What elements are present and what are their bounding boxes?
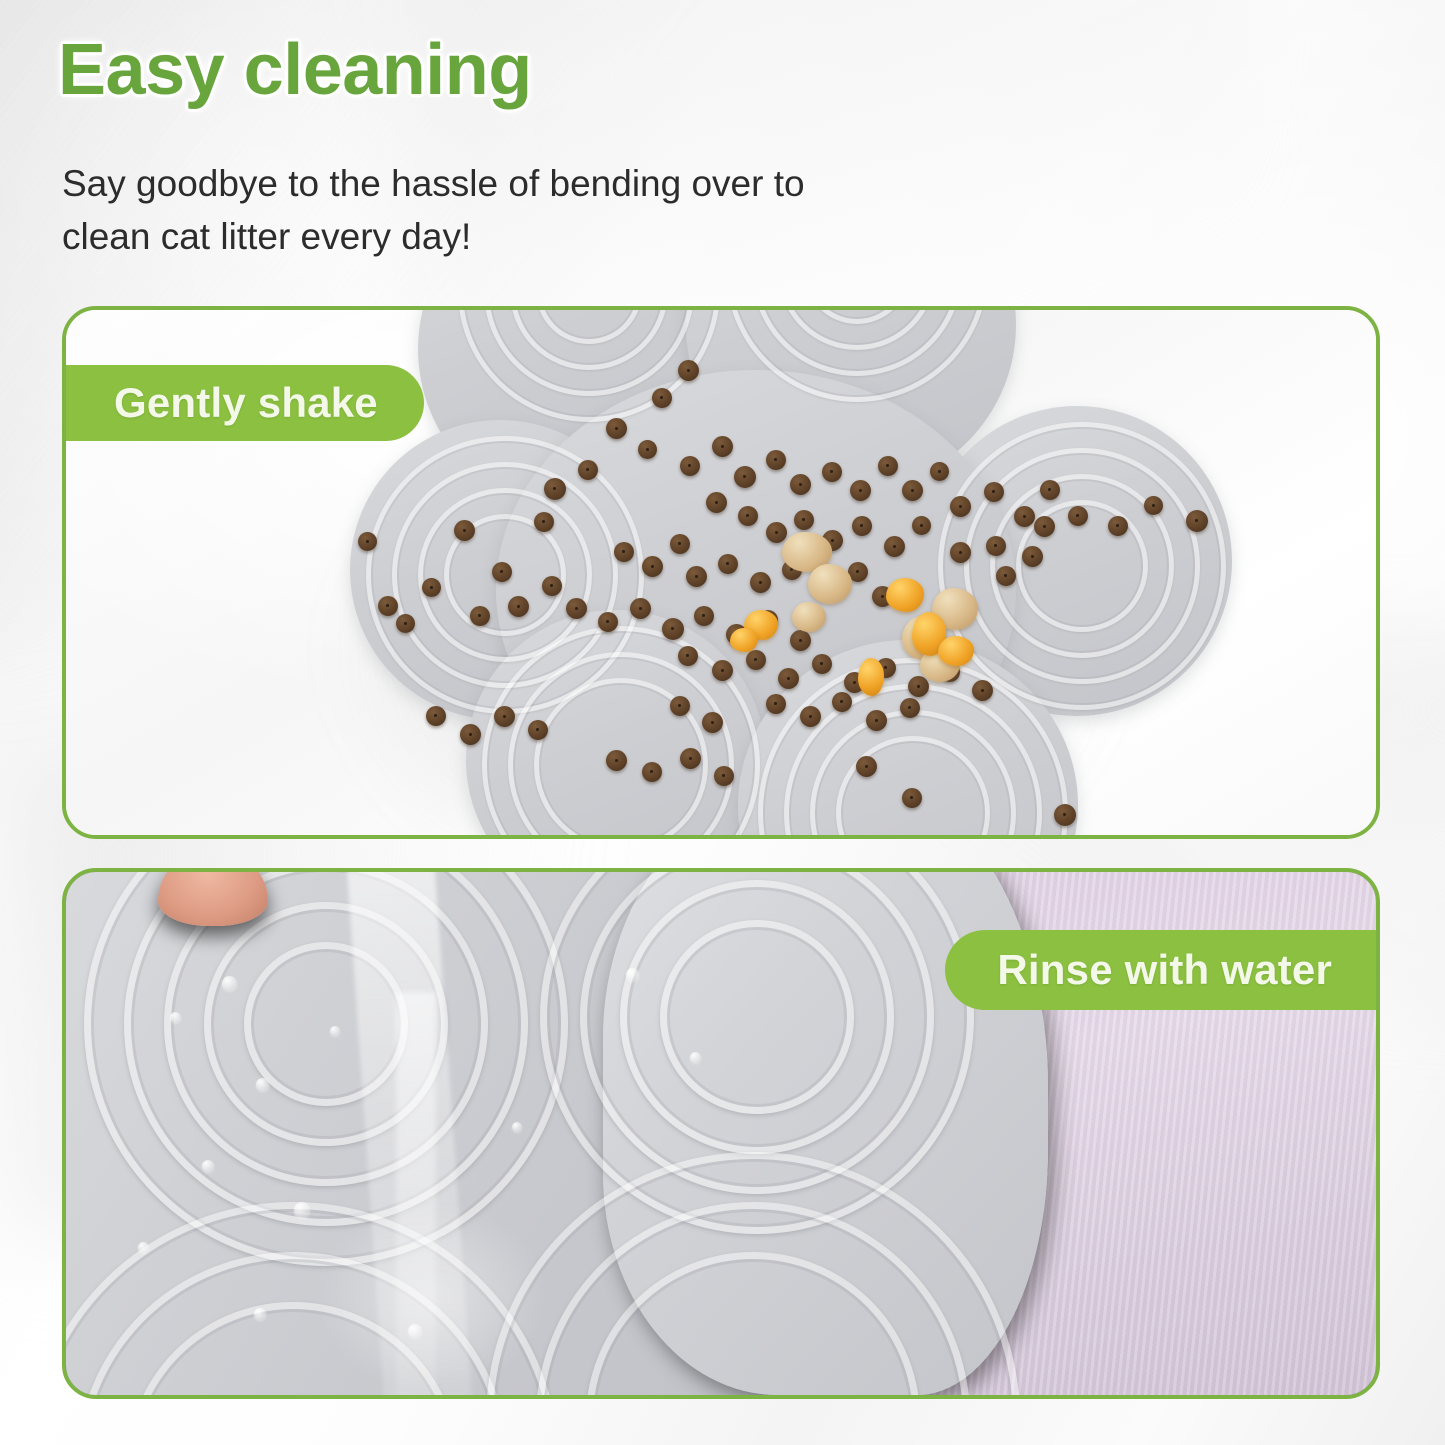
kibble [912, 516, 931, 535]
kibble [544, 478, 566, 500]
kibble [454, 520, 475, 541]
kibble [680, 748, 701, 769]
kibble [972, 680, 993, 701]
water-droplet [138, 1242, 149, 1253]
kibble [680, 456, 700, 476]
kibble [996, 566, 1016, 586]
kibble [686, 566, 707, 587]
kibble-orange [938, 636, 974, 666]
kibble [492, 562, 512, 582]
kibble [678, 646, 698, 666]
kibble [1014, 506, 1035, 527]
kibble [746, 650, 766, 670]
kibble [766, 450, 786, 470]
kibble [460, 724, 481, 745]
kibble [1108, 516, 1128, 536]
kibble [1022, 546, 1043, 567]
kibble [714, 766, 734, 786]
kibble [396, 614, 415, 633]
kibble [630, 598, 651, 619]
water-droplet [256, 1078, 269, 1091]
kibble [566, 598, 587, 619]
badge-rinse-with-water-label: Rinse with water [997, 946, 1332, 994]
water-droplet [202, 1160, 214, 1172]
kibble [1034, 516, 1055, 537]
thumb-holding-mat [158, 872, 268, 926]
kibble [670, 696, 690, 716]
kibble [878, 456, 898, 476]
kibble [508, 596, 529, 617]
kibble [706, 492, 727, 513]
kibble [750, 572, 771, 593]
kibble [534, 512, 554, 532]
card-rinse-with-water[interactable]: Rinse with water [62, 868, 1380, 1399]
kibble [852, 516, 872, 536]
water-droplet [294, 1202, 310, 1218]
kibble [930, 462, 949, 481]
kibble [986, 536, 1006, 556]
infographic-page: Easy cleaning Say goodbye to the hassle … [0, 0, 1445, 1445]
page-title: Easy cleaning [58, 34, 532, 106]
kibble [662, 618, 684, 640]
kibble [642, 762, 662, 782]
kibble [712, 436, 733, 457]
kibble [528, 720, 548, 740]
kibble [790, 630, 811, 651]
kibble [902, 788, 922, 808]
kibble [812, 654, 832, 674]
kibble [542, 576, 562, 596]
wet-mat-ridge [660, 920, 854, 1114]
water-droplet [222, 976, 237, 991]
water-droplet [626, 968, 639, 981]
kibble [678, 360, 699, 381]
kibble [718, 554, 738, 574]
kibble [766, 522, 787, 543]
kibble [1186, 510, 1208, 532]
kibble [470, 606, 490, 626]
kibble-tan [792, 602, 826, 632]
kibble [702, 712, 723, 733]
water-droplet [170, 1012, 181, 1023]
badge-gently-shake-label: Gently shake [114, 379, 378, 427]
kibble [494, 706, 515, 727]
page-subtitle: Say goodbye to the hassle of bending ove… [62, 158, 1022, 263]
water-droplet [690, 1052, 701, 1063]
kibble [712, 660, 733, 681]
kibble [856, 756, 877, 777]
badge-rinse-with-water[interactable]: Rinse with water [945, 930, 1376, 1010]
kibble [984, 482, 1004, 502]
kibble [638, 440, 657, 459]
kibble [378, 596, 398, 616]
kibble-tan [808, 564, 852, 604]
kibble [642, 556, 663, 577]
kibble-orange [858, 658, 884, 696]
kibble [614, 542, 634, 562]
kibble [606, 750, 627, 771]
kibble [426, 706, 446, 726]
water-splash [316, 1202, 546, 1392]
kibble [908, 676, 929, 697]
page-subtitle-line-1: Say goodbye to the hassle of bending ove… [62, 158, 1022, 211]
water-droplet [408, 1324, 422, 1338]
kibble [822, 462, 842, 482]
kibble [766, 694, 786, 714]
page-subtitle-line-2: clean cat litter every day! [62, 211, 1022, 264]
kibble [884, 536, 905, 557]
kibble [832, 692, 852, 712]
kibble [598, 612, 618, 632]
kibble [578, 460, 598, 480]
kibble [694, 606, 714, 626]
kibble [652, 388, 672, 408]
kibble [606, 418, 627, 439]
kibble [1040, 480, 1060, 500]
kibble [850, 480, 871, 501]
kibble [950, 542, 971, 563]
kibble-orange [730, 628, 758, 652]
water-droplet [330, 1026, 340, 1036]
badge-gently-shake[interactable]: Gently shake [66, 365, 424, 441]
card-gently-shake[interactable]: Gently shake [62, 306, 1380, 839]
water-droplet [254, 1308, 266, 1320]
kibble [790, 474, 811, 495]
water-droplet [512, 1122, 522, 1132]
kibble [902, 480, 923, 501]
kibble [900, 698, 920, 718]
kibble [794, 510, 814, 530]
kibble [734, 466, 756, 488]
kibble [1054, 804, 1076, 826]
kibble [358, 532, 377, 551]
kibble [800, 706, 821, 727]
kibble [778, 668, 799, 689]
kibble [866, 710, 887, 731]
kibble [670, 534, 690, 554]
kibble [950, 496, 971, 517]
kibble [1068, 506, 1088, 526]
kibble [1144, 496, 1163, 515]
kibble [422, 578, 441, 597]
kibble [738, 506, 758, 526]
kibble-orange [886, 578, 924, 612]
